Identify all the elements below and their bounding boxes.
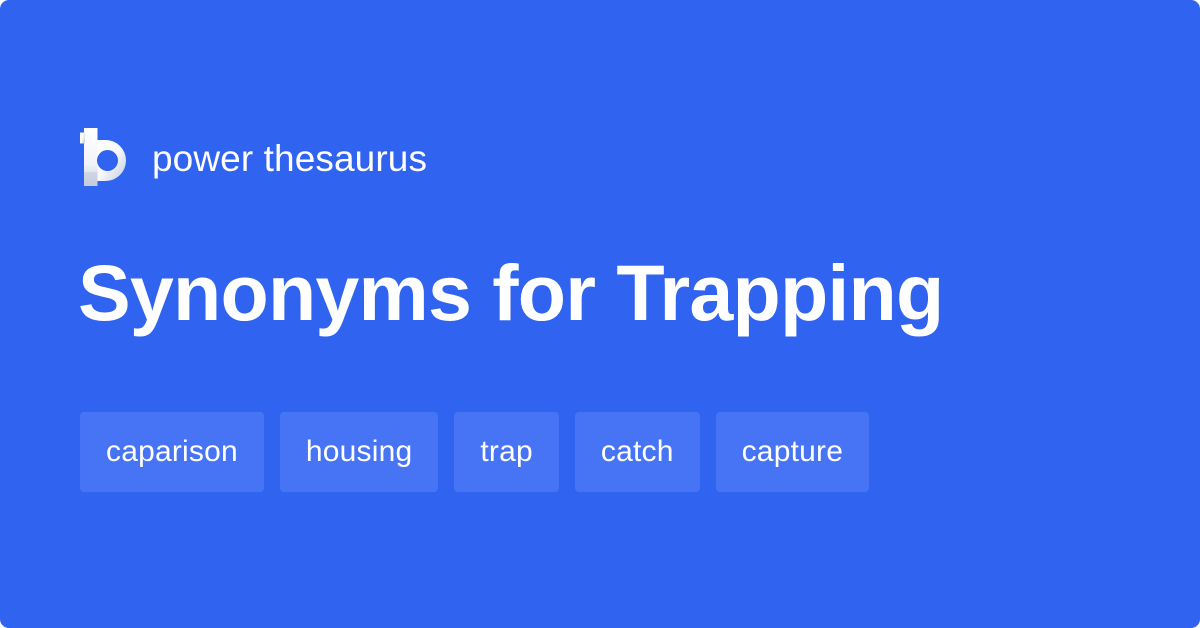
synonym-chip[interactable]: trap <box>454 412 559 492</box>
synonym-chip[interactable]: caparison <box>80 412 264 492</box>
power-thesaurus-b-logo-icon <box>80 128 132 186</box>
synonym-chip[interactable]: catch <box>575 412 700 492</box>
synonym-chip[interactable]: capture <box>716 412 869 492</box>
synonym-chip-list: caparison housing trap catch capture <box>80 412 869 492</box>
brand-name: power thesaurus <box>152 140 427 177</box>
brand-lockup[interactable]: power thesaurus <box>80 127 427 187</box>
page-title: Synonyms for Trapping <box>78 247 943 339</box>
share-card: power thesaurus Synonyms for Trapping ca… <box>0 0 1200 628</box>
synonym-chip[interactable]: housing <box>280 412 439 492</box>
